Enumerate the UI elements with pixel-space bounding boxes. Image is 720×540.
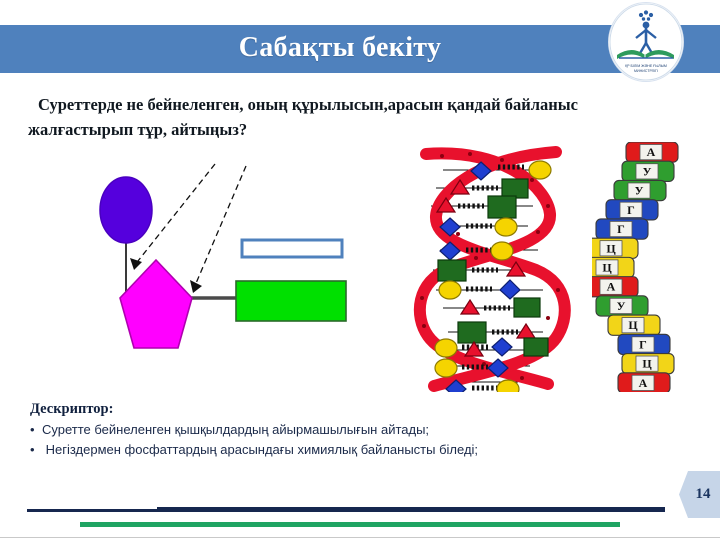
- bullet-icon: •: [30, 440, 42, 460]
- rna-base-letter: А: [607, 280, 616, 294]
- rna-base-block: Г: [596, 219, 648, 239]
- school-emblem-logo: ҚР БІЛІМ ЖӘНЕ ҒЫЛЫМ МИНИСТРЛІГІ: [608, 2, 684, 82]
- empty-label-box: [242, 240, 342, 257]
- rna-base-block: У: [614, 180, 666, 200]
- arrow-to-base-line: [194, 166, 246, 288]
- question-text: Суреттерде не бейнеленген, оның құрылысы…: [28, 92, 700, 142]
- rna-base-letter: А: [647, 145, 656, 159]
- rna-base-letter: Ц: [628, 318, 638, 332]
- descriptor-title: Дескриптор:: [30, 400, 670, 419]
- bullet-icon: •: [30, 420, 42, 440]
- nucleotide-schematic: [60, 148, 390, 388]
- rna-base-block: Ц: [622, 354, 674, 374]
- rna-base-letter: Г: [617, 222, 625, 236]
- question-line-1: Суреттерде не бейнеленген, оның құрылысы…: [38, 95, 578, 114]
- rna-base-letter: Ц: [642, 357, 652, 371]
- question-line-2: жалғастырып тұр, айтыңыз?: [28, 120, 247, 139]
- slide-canvas: Сабақты бекіту ҚР БІЛІМ ЖӘНЕ ҒЫЛЫМ МИНИС…: [0, 0, 720, 540]
- rna-base-block: А: [592, 277, 638, 297]
- sugar-pentagon: [120, 260, 192, 348]
- rna-base-block: Ц: [608, 315, 660, 335]
- arrow-to-base-head: [190, 280, 202, 293]
- rna-base-letter: У: [643, 164, 652, 178]
- rna-base-block: Г: [618, 334, 670, 354]
- list-item: •Суретте бейнеленген қышқылдардың айырма…: [30, 420, 670, 440]
- rna-base-letter: У: [635, 184, 644, 198]
- list-item: • Негіздермен фосфаттардың арасындағы хи…: [30, 440, 670, 460]
- descriptor-block: Дескриптор: •Суретте бейнеленген қышқылд…: [30, 400, 670, 460]
- rna-base-letter: Г: [627, 203, 635, 217]
- rna-base-letter: Ц: [602, 261, 612, 275]
- rna-base-block: А: [618, 373, 670, 392]
- descriptor-item-text: Суретте бейнеленген қышқылдардың айырмаш…: [42, 422, 429, 437]
- descriptor-list: •Суретте бейнеленген қышқылдардың айырма…: [30, 420, 670, 460]
- rna-base-block: У: [622, 161, 674, 181]
- page-title: Сабақты бекіту: [0, 28, 680, 68]
- rna-base-block: Г: [606, 200, 658, 220]
- rna-letter-strand: АУУГГЦЦАУЦГЦА: [592, 142, 708, 392]
- rna-base-block: У: [596, 296, 648, 316]
- footer-navy-rule-thick: [157, 507, 665, 512]
- footer-green-rule: [80, 522, 620, 527]
- arrow-to-phosphate-head: [130, 258, 142, 270]
- rna-base-letter: А: [639, 376, 648, 390]
- slide-bottom-hairline: [0, 537, 720, 538]
- logo-caption-line1: ҚР БІЛІМ ЖӘНЕ ҒЫЛЫМ: [625, 64, 667, 68]
- rna-base-letter: У: [617, 299, 626, 313]
- rna-base-block: Ц: [592, 238, 638, 258]
- base-rectangle: [236, 281, 346, 321]
- dna-double-helix: [398, 140, 588, 392]
- rna-base-letter: Г: [639, 337, 647, 351]
- rna-base-block: Ц: [592, 257, 634, 277]
- rna-base-letter: Ц: [606, 241, 616, 255]
- logo-caption-line2: МИНИСТРЛІГІ: [634, 69, 658, 73]
- page-number-text: 14: [689, 486, 711, 503]
- phosphate-oval: [100, 177, 152, 243]
- descriptor-item-text: Негіздермен фосфаттардың арасындағы хими…: [42, 442, 478, 457]
- rna-base-block: А: [626, 142, 678, 162]
- page-number-badge: 14: [679, 471, 720, 518]
